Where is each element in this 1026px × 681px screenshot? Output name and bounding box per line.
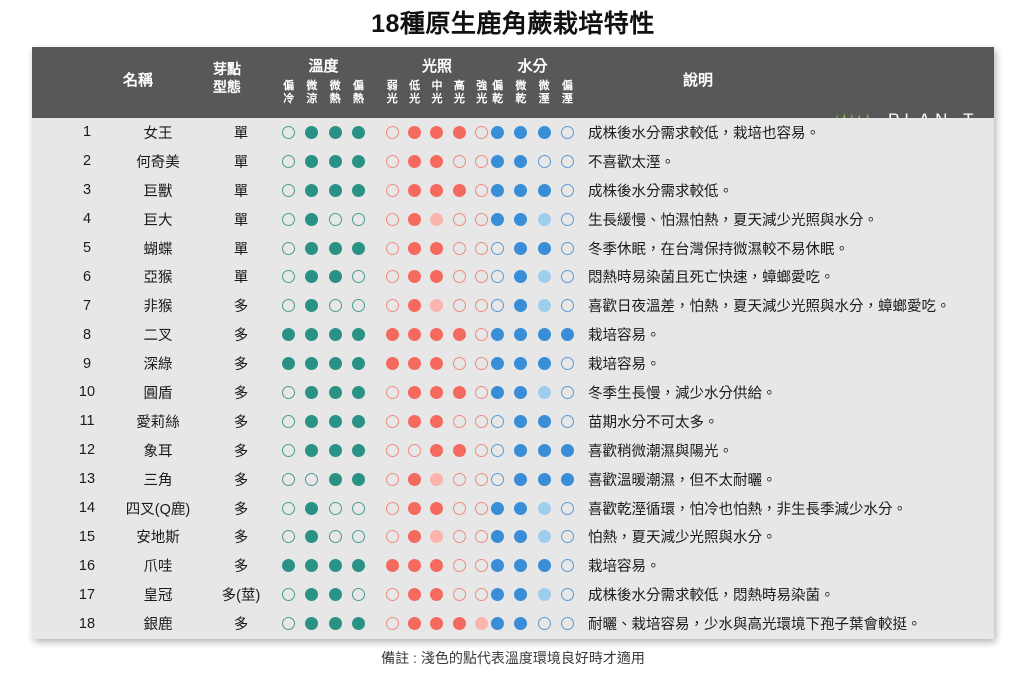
rating-slot-temperature-1 bbox=[300, 415, 323, 428]
row-light-ratings bbox=[381, 234, 493, 263]
rating-slot-light-0 bbox=[381, 444, 403, 457]
rating-slot-water-0 bbox=[486, 155, 509, 168]
rating-slot-temperature-1 bbox=[300, 357, 323, 370]
rating-slot-temperature-2 bbox=[324, 559, 347, 572]
rating-dot-water-0-none bbox=[491, 299, 504, 312]
rating-slot-temperature-3 bbox=[347, 270, 370, 283]
rating-dot-light-0-none bbox=[386, 386, 399, 399]
rating-slot-temperature-0 bbox=[277, 299, 300, 312]
subheader-temperature-0-line1: 偏 bbox=[277, 80, 300, 93]
rating-dot-temperature-2-full bbox=[329, 328, 342, 341]
row-description: 栽培容易。 bbox=[588, 320, 988, 349]
rating-slot-light-0 bbox=[381, 473, 403, 486]
page-title: 18種原生鹿角蕨栽培特性 bbox=[0, 8, 1026, 40]
row-temperature-ratings bbox=[277, 609, 370, 638]
rating-slot-water-1 bbox=[509, 473, 532, 486]
rating-slot-temperature-0 bbox=[277, 242, 300, 255]
rating-dot-light-3-none bbox=[453, 270, 466, 283]
rating-dot-water-2-full bbox=[538, 328, 551, 341]
rating-slot-water-0 bbox=[486, 328, 509, 341]
rating-dot-water-3-none bbox=[561, 617, 574, 630]
rating-dot-water-2-none bbox=[538, 617, 551, 630]
row-bud-type: 單 bbox=[212, 118, 270, 147]
row-description: 成株後水分需求較低，悶熱時易染菌。 bbox=[588, 580, 988, 609]
row-species-name: 四叉(Q鹿) bbox=[110, 494, 206, 523]
rating-dot-water-0-full bbox=[491, 328, 504, 341]
table-row[interactable]: 10圓盾多冬季生長慢，減少水分供給。 bbox=[32, 378, 994, 407]
subheader-light-1-line2: 光 bbox=[403, 93, 425, 106]
rating-dot-water-0-full bbox=[491, 559, 504, 572]
row-bud-type: 單 bbox=[212, 205, 270, 234]
table-row[interactable]: 11愛莉絲多苗期水分不可太多。 bbox=[32, 407, 994, 436]
row-index: 15 bbox=[72, 522, 102, 551]
row-description: 怕熱，夏天減少光照與水分。 bbox=[588, 522, 988, 551]
row-water-ratings bbox=[486, 234, 579, 263]
rating-slot-light-3 bbox=[448, 270, 470, 283]
table-row[interactable]: 16爪哇多栽培容易。 bbox=[32, 551, 994, 580]
rating-dot-light-2-full bbox=[430, 155, 443, 168]
rating-dot-light-1-full bbox=[408, 184, 421, 197]
rating-dot-temperature-2-full bbox=[329, 588, 342, 601]
rating-dot-light-3-none bbox=[453, 299, 466, 312]
rating-dot-light-2-full bbox=[430, 242, 443, 255]
rating-slot-water-3 bbox=[556, 213, 579, 226]
footnote: 備註 : 淺色的點代表溫度環境良好時才適用 bbox=[0, 648, 1026, 668]
row-light-ratings bbox=[381, 580, 493, 609]
rating-slot-light-3 bbox=[448, 559, 470, 572]
row-species-name: 皇冠 bbox=[110, 580, 206, 609]
rating-slot-water-2 bbox=[533, 328, 556, 341]
rating-dot-temperature-2-full bbox=[329, 126, 342, 139]
rating-slot-temperature-2 bbox=[324, 386, 347, 399]
rating-dot-water-1-full bbox=[514, 184, 527, 197]
rating-slot-water-2 bbox=[533, 357, 556, 370]
row-index: 6 bbox=[72, 262, 102, 291]
rating-slot-temperature-1 bbox=[300, 299, 323, 312]
row-bud-type: 單 bbox=[212, 147, 270, 176]
rating-slot-water-2 bbox=[533, 588, 556, 601]
row-index: 5 bbox=[72, 234, 102, 263]
rating-dot-temperature-2-full bbox=[329, 184, 342, 197]
rating-dot-temperature-0-none bbox=[282, 386, 295, 399]
subheader-water-1-line1: 微 bbox=[509, 80, 532, 93]
rating-slot-temperature-2 bbox=[324, 184, 347, 197]
row-species-name: 三角 bbox=[110, 465, 206, 494]
rating-dot-water-3-none bbox=[561, 588, 574, 601]
rating-slot-temperature-0 bbox=[277, 184, 300, 197]
rating-dot-water-0-full bbox=[491, 386, 504, 399]
rating-slot-temperature-0 bbox=[277, 386, 300, 399]
rating-slot-water-0 bbox=[486, 213, 509, 226]
rating-dot-temperature-1-full bbox=[305, 617, 318, 630]
row-water-ratings bbox=[486, 609, 579, 638]
rating-dot-light-2-full bbox=[430, 270, 443, 283]
rating-dot-light-0-none bbox=[386, 213, 399, 226]
subheader-temperature-3: 偏熱 bbox=[347, 80, 370, 106]
row-temperature-ratings bbox=[277, 465, 370, 494]
rating-dot-water-0-full bbox=[491, 155, 504, 168]
rating-dot-temperature-2-full bbox=[329, 242, 342, 255]
row-bud-type: 多 bbox=[212, 609, 270, 638]
rating-dot-temperature-3-none bbox=[352, 299, 365, 312]
rating-slot-water-2 bbox=[533, 270, 556, 283]
rating-slot-water-1 bbox=[509, 559, 532, 572]
row-index: 3 bbox=[72, 176, 102, 205]
rating-slot-water-1 bbox=[509, 415, 532, 428]
rating-dot-temperature-3-full bbox=[352, 473, 365, 486]
rating-slot-light-1 bbox=[403, 415, 425, 428]
rating-slot-water-3 bbox=[556, 386, 579, 399]
row-temperature-ratings bbox=[277, 378, 370, 407]
rating-dot-water-2-light bbox=[538, 270, 551, 283]
rating-slot-water-2 bbox=[533, 242, 556, 255]
subheader-temperature-3-line2: 熱 bbox=[347, 93, 370, 106]
rating-slot-temperature-2 bbox=[324, 588, 347, 601]
rating-slot-water-2 bbox=[533, 415, 556, 428]
rating-slot-temperature-3 bbox=[347, 299, 370, 312]
rating-dot-water-2-light bbox=[538, 213, 551, 226]
row-bud-type: 單 bbox=[212, 234, 270, 263]
rating-dot-light-0-full bbox=[386, 559, 399, 572]
rating-dot-temperature-2-none bbox=[329, 502, 342, 515]
rating-slot-temperature-2 bbox=[324, 617, 347, 630]
rating-dot-water-2-full bbox=[538, 357, 551, 370]
row-description: 生長緩慢、怕濕怕熱，夏天減少光照與水分。 bbox=[588, 205, 988, 234]
row-water-ratings bbox=[486, 262, 579, 291]
rating-slot-temperature-2 bbox=[324, 270, 347, 283]
row-description: 耐曬、栽培容易，少水與高光環境下孢子葉會較挺。 bbox=[588, 609, 988, 638]
rating-slot-light-3 bbox=[448, 386, 470, 399]
rating-dot-water-0-full bbox=[491, 213, 504, 226]
rating-slot-temperature-2 bbox=[324, 126, 347, 139]
table-row[interactable]: 14四叉(Q鹿)多喜歡乾溼循環，怕冷也怕熱，非生長季減少水分。 bbox=[32, 494, 994, 523]
row-species-name: 何奇美 bbox=[110, 147, 206, 176]
rating-dot-temperature-1-full bbox=[305, 270, 318, 283]
table-row[interactable]: 1女王單成株後水分需求較低，栽培也容易。 bbox=[32, 118, 994, 147]
rating-dot-temperature-0-none bbox=[282, 444, 295, 457]
row-species-name: 安地斯 bbox=[110, 522, 206, 551]
rating-slot-temperature-0 bbox=[277, 502, 300, 515]
rating-slot-light-2 bbox=[426, 502, 448, 515]
row-index: 1 bbox=[72, 118, 102, 147]
rating-dot-water-1-full bbox=[514, 213, 527, 226]
row-species-name: 象耳 bbox=[110, 436, 206, 465]
row-temperature-ratings bbox=[277, 551, 370, 580]
rating-slot-temperature-0 bbox=[277, 530, 300, 543]
row-light-ratings bbox=[381, 551, 493, 580]
rating-dot-light-0-none bbox=[386, 473, 399, 486]
subheaders-light: 弱光低光中光高光強光 bbox=[381, 80, 493, 106]
row-description: 冬季生長慢，減少水分供給。 bbox=[588, 378, 988, 407]
rating-slot-water-2 bbox=[533, 386, 556, 399]
row-light-ratings bbox=[381, 522, 493, 551]
rating-dot-light-3-none bbox=[453, 588, 466, 601]
rating-slot-light-1 bbox=[403, 386, 425, 399]
row-light-ratings bbox=[381, 494, 493, 523]
rating-slot-temperature-0 bbox=[277, 328, 300, 341]
row-index: 17 bbox=[72, 580, 102, 609]
rating-slot-light-3 bbox=[448, 357, 470, 370]
characteristics-table-card: 名稱 芽點 型態 溫度 光照 水分 偏冷微涼微熱偏熱 弱光低光中光高光強光 偏乾… bbox=[32, 47, 994, 639]
rating-slot-temperature-1 bbox=[300, 530, 323, 543]
rating-slot-temperature-2 bbox=[324, 299, 347, 312]
rating-dot-temperature-1-full bbox=[305, 299, 318, 312]
rating-slot-water-3 bbox=[556, 530, 579, 543]
rating-dot-light-0-full bbox=[386, 328, 399, 341]
rating-slot-light-2 bbox=[426, 386, 448, 399]
rating-dot-temperature-0-none bbox=[282, 530, 295, 543]
rating-slot-light-3 bbox=[448, 328, 470, 341]
rating-dot-water-2-none bbox=[538, 155, 551, 168]
rating-slot-water-1 bbox=[509, 270, 532, 283]
rating-slot-light-1 bbox=[403, 155, 425, 168]
rating-slot-light-1 bbox=[403, 617, 425, 630]
subheader-water-3: 偏溼 bbox=[556, 80, 579, 106]
table-row[interactable]: 6亞猴單悶熱時易染菌且死亡快速，蟑螂愛吃。 bbox=[32, 262, 994, 291]
row-temperature-ratings bbox=[277, 176, 370, 205]
subheader-temperature-2: 微熱 bbox=[324, 80, 347, 106]
rating-dot-temperature-0-none bbox=[282, 415, 295, 428]
subheader-temperature-1: 微涼 bbox=[300, 80, 323, 106]
row-species-name: 蝴蝶 bbox=[110, 234, 206, 263]
rating-dot-water-1-full bbox=[514, 444, 527, 457]
table-row[interactable]: 15安地斯多怕熱，夏天減少光照與水分。 bbox=[32, 522, 994, 551]
rating-dot-water-0-full bbox=[491, 126, 504, 139]
rating-slot-light-0 bbox=[381, 270, 403, 283]
rating-slot-temperature-1 bbox=[300, 588, 323, 601]
subheader-water-3-line2: 溼 bbox=[556, 93, 579, 106]
row-species-name: 銀鹿 bbox=[110, 609, 206, 638]
rating-dot-water-3-none bbox=[561, 270, 574, 283]
rating-dot-temperature-3-full bbox=[352, 415, 365, 428]
row-light-ratings bbox=[381, 147, 493, 176]
row-index: 8 bbox=[72, 320, 102, 349]
table-row[interactable]: 9深綠多栽培容易。 bbox=[32, 349, 994, 378]
rating-dot-light-1-full bbox=[408, 502, 421, 515]
row-species-name: 亞猴 bbox=[110, 262, 206, 291]
rating-dot-light-2-light bbox=[430, 473, 443, 486]
row-index: 16 bbox=[72, 551, 102, 580]
row-description: 冬季休眠，在台灣保持微濕較不易休眠。 bbox=[588, 234, 988, 263]
rating-slot-temperature-2 bbox=[324, 155, 347, 168]
rating-slot-water-0 bbox=[486, 270, 509, 283]
rating-dot-temperature-3-full bbox=[352, 444, 365, 457]
row-water-ratings bbox=[486, 407, 579, 436]
row-light-ratings bbox=[381, 320, 493, 349]
rating-dot-temperature-0-none bbox=[282, 473, 295, 486]
table-row[interactable]: 3巨獸單成株後水分需求較低。 bbox=[32, 176, 994, 205]
rating-slot-light-3 bbox=[448, 155, 470, 168]
rating-dot-temperature-3-full bbox=[352, 126, 365, 139]
rating-dot-light-3-full bbox=[453, 126, 466, 139]
rating-dot-light-3-full bbox=[453, 328, 466, 341]
rating-slot-light-1 bbox=[403, 530, 425, 543]
rating-dot-water-2-full bbox=[538, 559, 551, 572]
rating-slot-light-0 bbox=[381, 502, 403, 515]
subheader-light-1-line1: 低 bbox=[403, 80, 425, 93]
rating-slot-light-2 bbox=[426, 473, 448, 486]
rating-slot-light-2 bbox=[426, 299, 448, 312]
rating-dot-light-2-light bbox=[430, 299, 443, 312]
rating-slot-light-0 bbox=[381, 126, 403, 139]
rating-dot-temperature-1-full bbox=[305, 559, 318, 572]
rating-slot-water-3 bbox=[556, 444, 579, 457]
rating-dot-temperature-2-full bbox=[329, 155, 342, 168]
rating-slot-temperature-1 bbox=[300, 213, 323, 226]
row-bud-type: 多 bbox=[212, 320, 270, 349]
rating-dot-light-2-full bbox=[430, 559, 443, 572]
rating-dot-light-0-none bbox=[386, 415, 399, 428]
rating-dot-temperature-0-full bbox=[282, 328, 295, 341]
rating-dot-temperature-0-full bbox=[282, 357, 295, 370]
rating-dot-light-1-full bbox=[408, 415, 421, 428]
rating-dot-temperature-1-full bbox=[305, 184, 318, 197]
rating-dot-temperature-2-full bbox=[329, 415, 342, 428]
row-water-ratings bbox=[486, 147, 579, 176]
rating-dot-light-1-full bbox=[408, 328, 421, 341]
row-water-ratings bbox=[486, 522, 579, 551]
table-row[interactable]: 7非猴多喜歡日夜溫差，怕熱，夏天減少光照與水分，蟑螂愛吃。 bbox=[32, 291, 994, 320]
rating-slot-light-2 bbox=[426, 530, 448, 543]
row-light-ratings bbox=[381, 349, 493, 378]
subheader-light-3-line2: 光 bbox=[448, 93, 470, 106]
rating-dot-water-1-full bbox=[514, 155, 527, 168]
rating-dot-light-2-full bbox=[430, 415, 443, 428]
rating-slot-water-1 bbox=[509, 126, 532, 139]
row-temperature-ratings bbox=[277, 118, 370, 147]
rating-slot-temperature-0 bbox=[277, 270, 300, 283]
row-bud-type: 多 bbox=[212, 465, 270, 494]
rating-dot-water-1-full bbox=[514, 328, 527, 341]
rating-slot-temperature-2 bbox=[324, 502, 347, 515]
rating-dot-water-0-none bbox=[491, 242, 504, 255]
column-header-description: 說明 bbox=[578, 69, 818, 90]
table-row[interactable]: 12象耳多喜歡稍微潮濕與陽光。 bbox=[32, 436, 994, 465]
subheader-water-0-line2: 乾 bbox=[486, 93, 509, 106]
table-row[interactable]: 18銀鹿多耐曬、栽培容易，少水與高光環境下孢子葉會較挺。 bbox=[32, 609, 994, 638]
table-row[interactable]: 8二叉多栽培容易。 bbox=[32, 320, 994, 349]
row-water-ratings bbox=[486, 205, 579, 234]
row-index: 4 bbox=[72, 205, 102, 234]
rating-dot-temperature-1-full bbox=[305, 213, 318, 226]
rating-dot-water-1-full bbox=[514, 386, 527, 399]
table-row[interactable]: 4巨大單生長緩慢、怕濕怕熱，夏天減少光照與水分。 bbox=[32, 205, 994, 234]
rating-dot-water-2-light bbox=[538, 299, 551, 312]
rating-slot-temperature-3 bbox=[347, 328, 370, 341]
rating-dot-light-0-none bbox=[386, 270, 399, 283]
rating-dot-light-3-none bbox=[453, 473, 466, 486]
rating-slot-temperature-1 bbox=[300, 126, 323, 139]
rating-dot-temperature-3-none bbox=[352, 530, 365, 543]
rating-slot-water-3 bbox=[556, 126, 579, 139]
rating-slot-light-1 bbox=[403, 184, 425, 197]
rating-slot-light-1 bbox=[403, 213, 425, 226]
rating-slot-temperature-1 bbox=[300, 155, 323, 168]
rating-dot-temperature-0-none bbox=[282, 242, 295, 255]
row-bud-type: 多 bbox=[212, 494, 270, 523]
rating-dot-light-2-full bbox=[430, 328, 443, 341]
rating-dot-water-1-full bbox=[514, 617, 527, 630]
rating-dot-water-0-none bbox=[491, 444, 504, 457]
row-species-name: 深綠 bbox=[110, 349, 206, 378]
subheader-light-2-line1: 中 bbox=[426, 80, 448, 93]
column-group-water: 水分 bbox=[486, 55, 579, 76]
rating-slot-water-3 bbox=[556, 299, 579, 312]
rating-dot-water-0-none bbox=[491, 415, 504, 428]
rating-dot-light-1-full bbox=[408, 357, 421, 370]
table-row[interactable]: 13三角多喜歡溫暖潮濕，但不太耐曬。 bbox=[32, 465, 994, 494]
rating-slot-light-1 bbox=[403, 270, 425, 283]
rating-dot-light-1-full bbox=[408, 386, 421, 399]
rating-slot-water-2 bbox=[533, 299, 556, 312]
row-temperature-ratings bbox=[277, 494, 370, 523]
subheader-temperature-2-line2: 熱 bbox=[324, 93, 347, 106]
rating-slot-water-2 bbox=[533, 126, 556, 139]
rating-slot-light-1 bbox=[403, 502, 425, 515]
row-bud-type: 多(莖) bbox=[212, 580, 270, 609]
rating-dot-temperature-0-none bbox=[282, 155, 295, 168]
rating-dot-light-0-none bbox=[386, 155, 399, 168]
table-row[interactable]: 17皇冠多(莖)成株後水分需求較低，悶熱時易染菌。 bbox=[32, 580, 994, 609]
subheader-water-0: 偏乾 bbox=[486, 80, 509, 106]
row-temperature-ratings bbox=[277, 262, 370, 291]
row-light-ratings bbox=[381, 407, 493, 436]
rating-dot-light-3-none bbox=[453, 415, 466, 428]
row-water-ratings bbox=[486, 465, 579, 494]
row-index: 10 bbox=[72, 378, 102, 407]
rating-slot-temperature-2 bbox=[324, 357, 347, 370]
row-bud-type: 多 bbox=[212, 291, 270, 320]
rating-dot-light-1-full bbox=[408, 617, 421, 630]
rating-dot-water-3-none bbox=[561, 126, 574, 139]
column-header-bud-type-line2: 型態 bbox=[198, 78, 256, 96]
rating-slot-temperature-2 bbox=[324, 242, 347, 255]
rating-dot-light-1-full bbox=[408, 299, 421, 312]
rating-slot-light-0 bbox=[381, 588, 403, 601]
rating-slot-temperature-2 bbox=[324, 473, 347, 486]
rating-dot-water-2-full bbox=[538, 444, 551, 457]
rating-slot-light-3 bbox=[448, 530, 470, 543]
rating-slot-light-3 bbox=[448, 502, 470, 515]
table-row[interactable]: 5蝴蝶單冬季休眠，在台灣保持微濕較不易休眠。 bbox=[32, 234, 994, 263]
rating-dot-light-2-light bbox=[430, 213, 443, 226]
subheaders-temperature: 偏冷微涼微熱偏熱 bbox=[277, 80, 370, 106]
rating-dot-water-3-none bbox=[561, 155, 574, 168]
row-temperature-ratings bbox=[277, 407, 370, 436]
row-water-ratings bbox=[486, 176, 579, 205]
row-temperature-ratings bbox=[277, 436, 370, 465]
row-water-ratings bbox=[486, 291, 579, 320]
row-index: 7 bbox=[72, 291, 102, 320]
rating-slot-temperature-0 bbox=[277, 588, 300, 601]
rating-dot-light-3-none bbox=[453, 559, 466, 572]
rating-dot-temperature-0-none bbox=[282, 617, 295, 630]
row-water-ratings bbox=[486, 580, 579, 609]
rating-slot-water-1 bbox=[509, 588, 532, 601]
subheader-water-3-line1: 偏 bbox=[556, 80, 579, 93]
row-description: 喜歡乾溼循環，怕冷也怕熱，非生長季減少水分。 bbox=[588, 494, 988, 523]
column-header-bud-type: 芽點 型態 bbox=[198, 60, 256, 96]
rating-slot-light-2 bbox=[426, 328, 448, 341]
rating-dot-temperature-2-full bbox=[329, 473, 342, 486]
subheader-temperature-1-line1: 微 bbox=[300, 80, 323, 93]
table-row[interactable]: 2何奇美單不喜歡太溼。 bbox=[32, 147, 994, 176]
rating-dot-water-2-light bbox=[538, 386, 551, 399]
rating-dot-water-3-none bbox=[561, 299, 574, 312]
subheader-temperature-1-line2: 涼 bbox=[300, 93, 323, 106]
rating-dot-light-0-none bbox=[386, 530, 399, 543]
rating-dot-temperature-1-full bbox=[305, 155, 318, 168]
